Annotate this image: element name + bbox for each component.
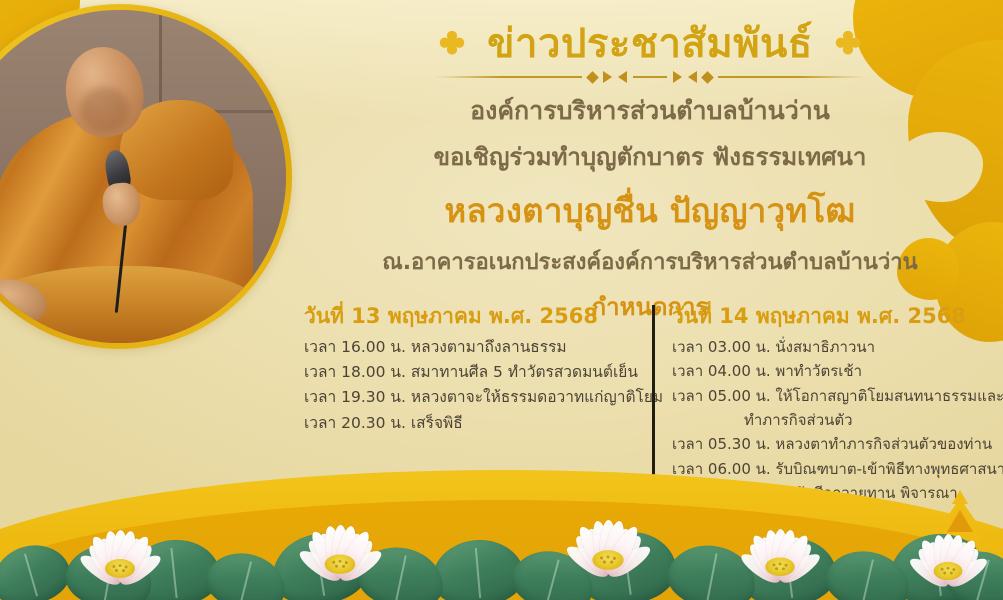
- schedule-item-text: เวลา 03.00 น. นั่งสมาธิภาวนา: [672, 338, 875, 356]
- day1-title: วันที่ 13 พฤษภาคม พ.ศ. 2568: [304, 304, 636, 329]
- schedule-item: เวลา 03.00 น. นั่งสมาธิภาวนา: [672, 335, 996, 359]
- flourish-line-mid: [633, 76, 667, 78]
- venue-line: ณ.อาคารอเนกประสงค์องค์การบริหารส่วนตำบลบ…: [300, 247, 1000, 279]
- monk-name: หลวงตาบุญชื่น ปัญญาวุทโฒ: [300, 184, 1000, 237]
- schedule-item-continuation: ทำภารกิจส่วนตัว: [672, 408, 996, 432]
- flourish-diamond-1: [586, 71, 599, 84]
- title-row: ข่าวประชาสัมพันธ์: [300, 22, 1000, 66]
- schedule-item: เวลา 05.30 น. หลวงตาทำภารกิจส่วนตัวของท่…: [672, 432, 996, 456]
- schedule-item: เวลา 18.00 น. สมาทานศีล 5 ทำวัตรสวดมนต์เ…: [304, 360, 636, 385]
- poster-canvas: ข่าวประชาสัมพันธ์ องค์การบริหารส่วนตำบลบ…: [0, 0, 1003, 600]
- schedule-item: เวลา 19.30 น. หลวงตาจะให้ธรรมดอวาทแก่ญาต…: [304, 385, 636, 410]
- schedule-item-text: เวลา 06.00 น. รับบิณฑบาต-เข้าพิธีทางพุทธ…: [672, 460, 1003, 478]
- day1-items: เวลา 16.00 น. หลวงตามาถึงลานธรรม เวลา 18…: [304, 335, 636, 435]
- schedule-item-text: เวลา 20.30 น. เสร็จพิธี: [304, 414, 463, 432]
- flourish-line-right: [718, 76, 865, 78]
- schedule-item-text: เวลา 18.00 น. สมาทานศีล 5 ทำวัตรสวดมนต์เ…: [304, 363, 638, 381]
- schedule-item-text: เวลา 05.00 น. ให้โอกาสญาติโยมสนทนาธรรมแล…: [672, 387, 1003, 405]
- flourish-triangle-4: [688, 71, 697, 83]
- schedule-item: เวลา 20.30 น. เสร็จพิธี: [304, 411, 636, 436]
- page-title: ข่าวประชาสัมพันธ์: [487, 22, 813, 66]
- organization-name: องค์การบริหารส่วนตำบลบ้านว่าน: [300, 93, 1000, 129]
- schedule-item-text: เวลา 16.00 น. หลวงตามาถึงลานธรรม: [304, 338, 567, 356]
- schedule-item-text: เวลา 05.30 น. หลวงตาทำภารกิจส่วนตัวของท่…: [672, 435, 992, 453]
- quatrefoil-ornament-right-icon: [833, 29, 863, 59]
- schedule-item: เวลา 04.00 น. พาทำวัตรเช้า: [672, 359, 996, 383]
- flourish-triangle-1: [603, 71, 612, 83]
- schedule-item-text: เวลา 04.00 น. พาทำวัตรเช้า: [672, 362, 862, 380]
- schedule-item: เวลา 16.00 น. หลวงตามาถึงลานธรรม: [304, 335, 636, 360]
- monk-portrait-photo: [0, 10, 286, 343]
- flourish-diamond-2: [701, 71, 714, 84]
- monk-portrait-frame: [0, 4, 292, 349]
- schedule-item-text: เวลา 19.30 น. หลวงตาจะให้ธรรมดอวาทแก่ญาต…: [304, 388, 663, 406]
- flourish-triangle-2: [618, 71, 627, 83]
- quatrefoil-ornament-left-icon: [437, 29, 467, 59]
- day2-title: วันที่ 14 พฤษภาคม พ.ศ. 2568: [672, 304, 996, 329]
- title-underline-flourish: [435, 71, 865, 83]
- invitation-line: ขอเชิญร่วมทำบุญตักบาตร ฟังธรรมเทศนา: [300, 140, 1000, 175]
- flourish-line-left: [435, 76, 582, 78]
- flourish-triangle-3: [673, 71, 682, 83]
- schedule-item: เวลา 05.00 น. ให้โอกาสญาติโยมสนทนาธรรมแล…: [672, 384, 996, 433]
